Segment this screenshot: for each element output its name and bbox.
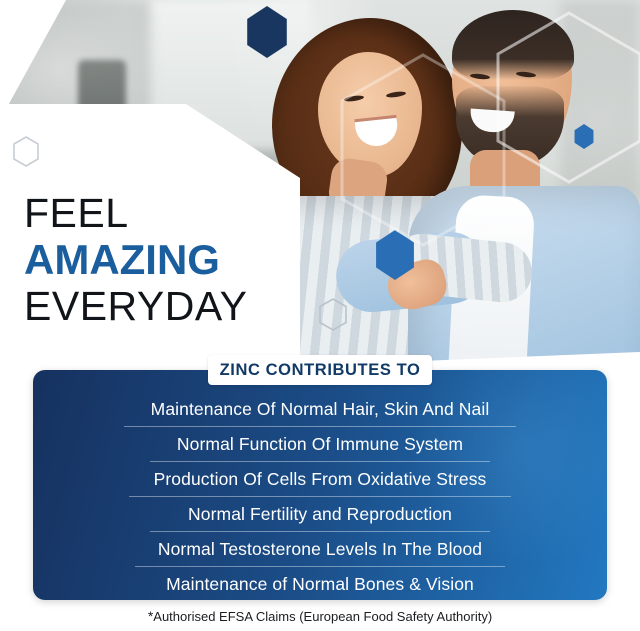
hexagon-outline-photo-icon xyxy=(494,10,640,185)
headline-line-1: FEEL xyxy=(24,193,248,234)
list-item: Normal Testosterone Levels In The Blood xyxy=(33,532,607,567)
claims-list: Maintenance Of Normal Hair, Skin And Nai… xyxy=(33,392,607,602)
hexagon-outline-photo-2-icon xyxy=(338,52,508,248)
hexagon-outline-light-icon xyxy=(318,298,348,331)
list-item: Maintenance of Normal Bones & Vision xyxy=(33,567,607,602)
headline-line-2: AMAZING xyxy=(24,239,248,281)
list-item: Normal Function Of Immune System xyxy=(33,427,607,462)
poster-root: FEEL AMAZING EVERYDAY ZINC CONTRIBUTES T… xyxy=(0,0,640,631)
hexagon-outline-grey-icon xyxy=(12,136,40,167)
footnote-text: Authorised EFSA Claims (European Food Sa… xyxy=(153,609,492,624)
headline-block: FEEL AMAZING EVERYDAY xyxy=(24,193,248,327)
claim-text: Maintenance of Normal Bones & Vision xyxy=(166,574,474,595)
list-item: Production Of Cells From Oxidative Stres… xyxy=(33,462,607,497)
zinc-contributes-badge-label: ZINC CONTRIBUTES TO xyxy=(220,361,421,380)
claim-text: Normal Testosterone Levels In The Blood xyxy=(158,539,482,560)
zinc-contributes-badge: ZINC CONTRIBUTES TO xyxy=(208,355,432,385)
list-item: Normal Fertility and Reproduction xyxy=(33,497,607,532)
claim-text: Normal Fertility and Reproduction xyxy=(188,504,452,525)
claim-text: Production Of Cells From Oxidative Stres… xyxy=(154,469,487,490)
list-item: Maintenance Of Normal Hair, Skin And Nai… xyxy=(33,392,607,427)
claim-text: Normal Function Of Immune System xyxy=(177,434,463,455)
footnote: *Authorised EFSA Claims (European Food S… xyxy=(0,608,640,624)
headline-line-3: EVERYDAY xyxy=(24,286,248,327)
claim-text: Maintenance Of Normal Hair, Skin And Nai… xyxy=(151,399,490,420)
